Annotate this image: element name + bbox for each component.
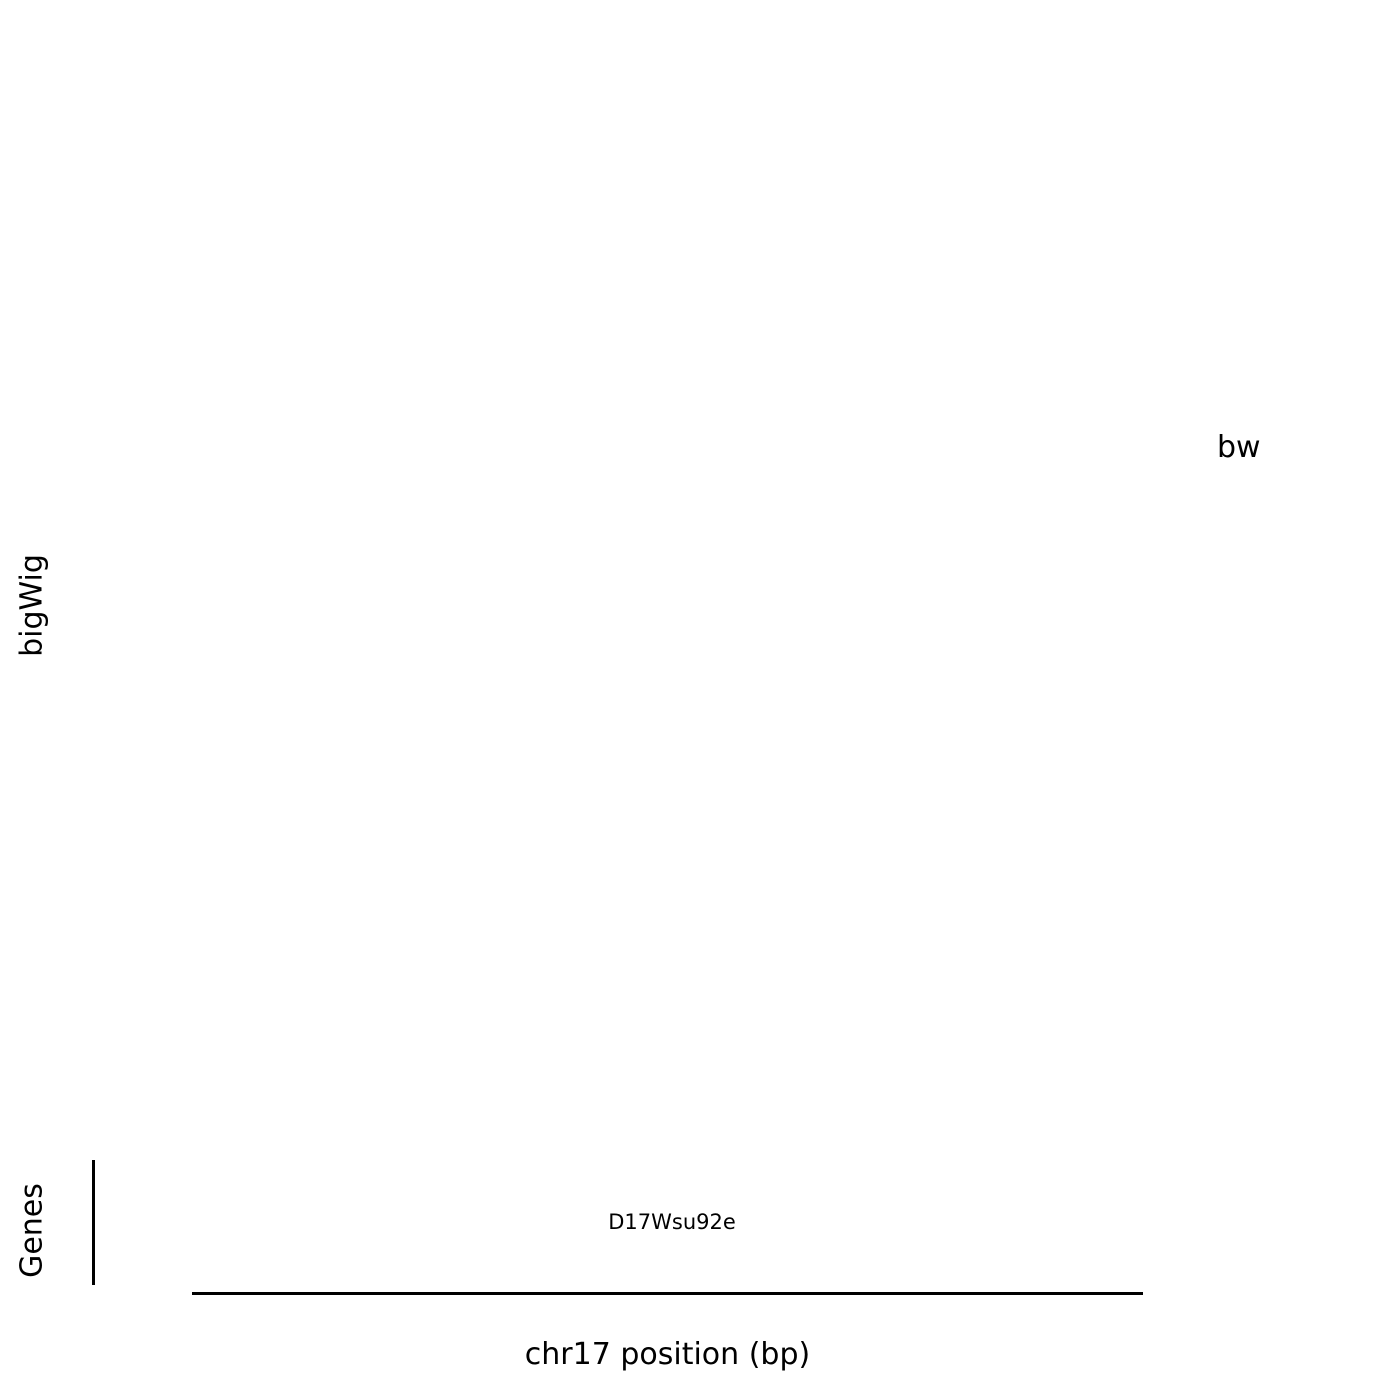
x-axis-title: chr17 position (bp) bbox=[192, 1337, 1143, 1372]
y-axis-title: bigWig bbox=[15, 526, 50, 686]
legend: bw bbox=[1213, 430, 1261, 479]
x-axis-line bbox=[192, 1292, 1143, 1295]
gene-plot-area: D17Wsu92e bbox=[95, 1160, 1140, 1285]
legend-title: bw bbox=[1217, 430, 1261, 465]
genes-axis-title: Genes bbox=[15, 1171, 50, 1291]
gene-track-panel: D17Wsu92e bbox=[92, 1160, 1140, 1285]
gene-label: D17Wsu92e bbox=[608, 1210, 736, 1234]
